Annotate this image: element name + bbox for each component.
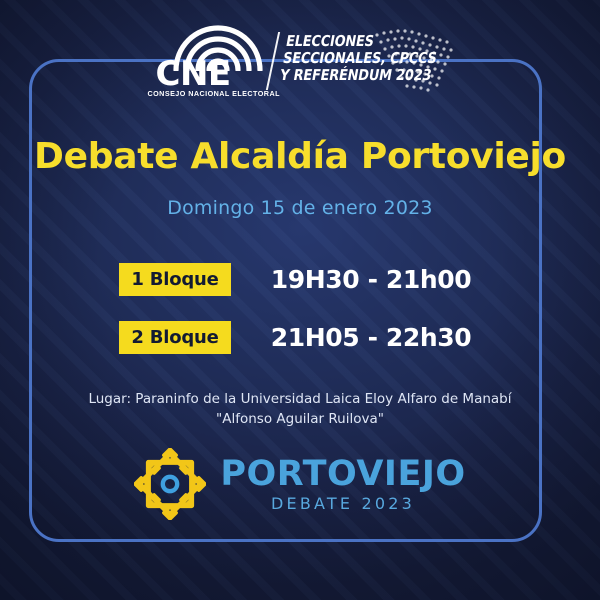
block-badge: 2 Bloque <box>119 321 231 354</box>
block-time: 21H05 - 22h30 <box>261 323 481 352</box>
campaign-line-2: SECCIONALES, CPCCS <box>281 50 438 67</box>
venue-line-2: "Alfonso Aguilar Ruilova" <box>0 409 600 429</box>
schedule-row: 1 Bloque 19H30 - 21h00 <box>0 257 600 301</box>
debate-poster: CNE CONSEJO NACIONAL ELECTORAL <box>0 0 600 600</box>
schedule-list: 1 Bloque 19H30 - 21h00 2 Bloque 21H05 - … <box>0 257 600 373</box>
schedule-row: 2 Bloque 21H05 - 22h30 <box>0 315 600 359</box>
cne-logo: CNE CONSEJO NACIONAL ELECTORAL <box>148 21 266 101</box>
header-logos: CNE CONSEJO NACIONAL ELECTORAL <box>0 18 600 104</box>
portoviejo-tagline: DEBATE 2023 <box>220 494 465 513</box>
block-badge: 1 Bloque <box>119 263 231 296</box>
campaign-badge: ELECCIONES SECCIONALES, CPCCS Y REFERÉND… <box>283 25 453 97</box>
portoviejo-logo: PORTOVIEJO DEBATE 2023 <box>0 448 600 520</box>
portoviejo-name: PORTOVIEJO <box>220 455 465 493</box>
event-date: Domingo 15 de enero 2023 <box>0 197 600 219</box>
campaign-line-3: Y REFERÉNDUM 2023 <box>278 67 435 84</box>
page-title: Debate Alcaldía Portoviejo <box>0 136 600 177</box>
portoviejo-star-emblem-icon <box>134 448 206 520</box>
venue-line-1: Lugar: Paraninfo de la Universidad Laica… <box>0 389 600 409</box>
block-time: 19H30 - 21h00 <box>261 265 481 294</box>
cne-acronym: CNE <box>156 57 266 91</box>
venue-info: Lugar: Paraninfo de la Universidad Laica… <box>0 389 600 429</box>
campaign-line-1: ELECCIONES <box>284 33 441 50</box>
portoviejo-wordmark: PORTOVIEJO DEBATE 2023 <box>220 455 465 513</box>
cne-full-name: CONSEJO NACIONAL ELECTORAL <box>148 89 272 98</box>
vertical-divider-icon <box>265 32 279 90</box>
